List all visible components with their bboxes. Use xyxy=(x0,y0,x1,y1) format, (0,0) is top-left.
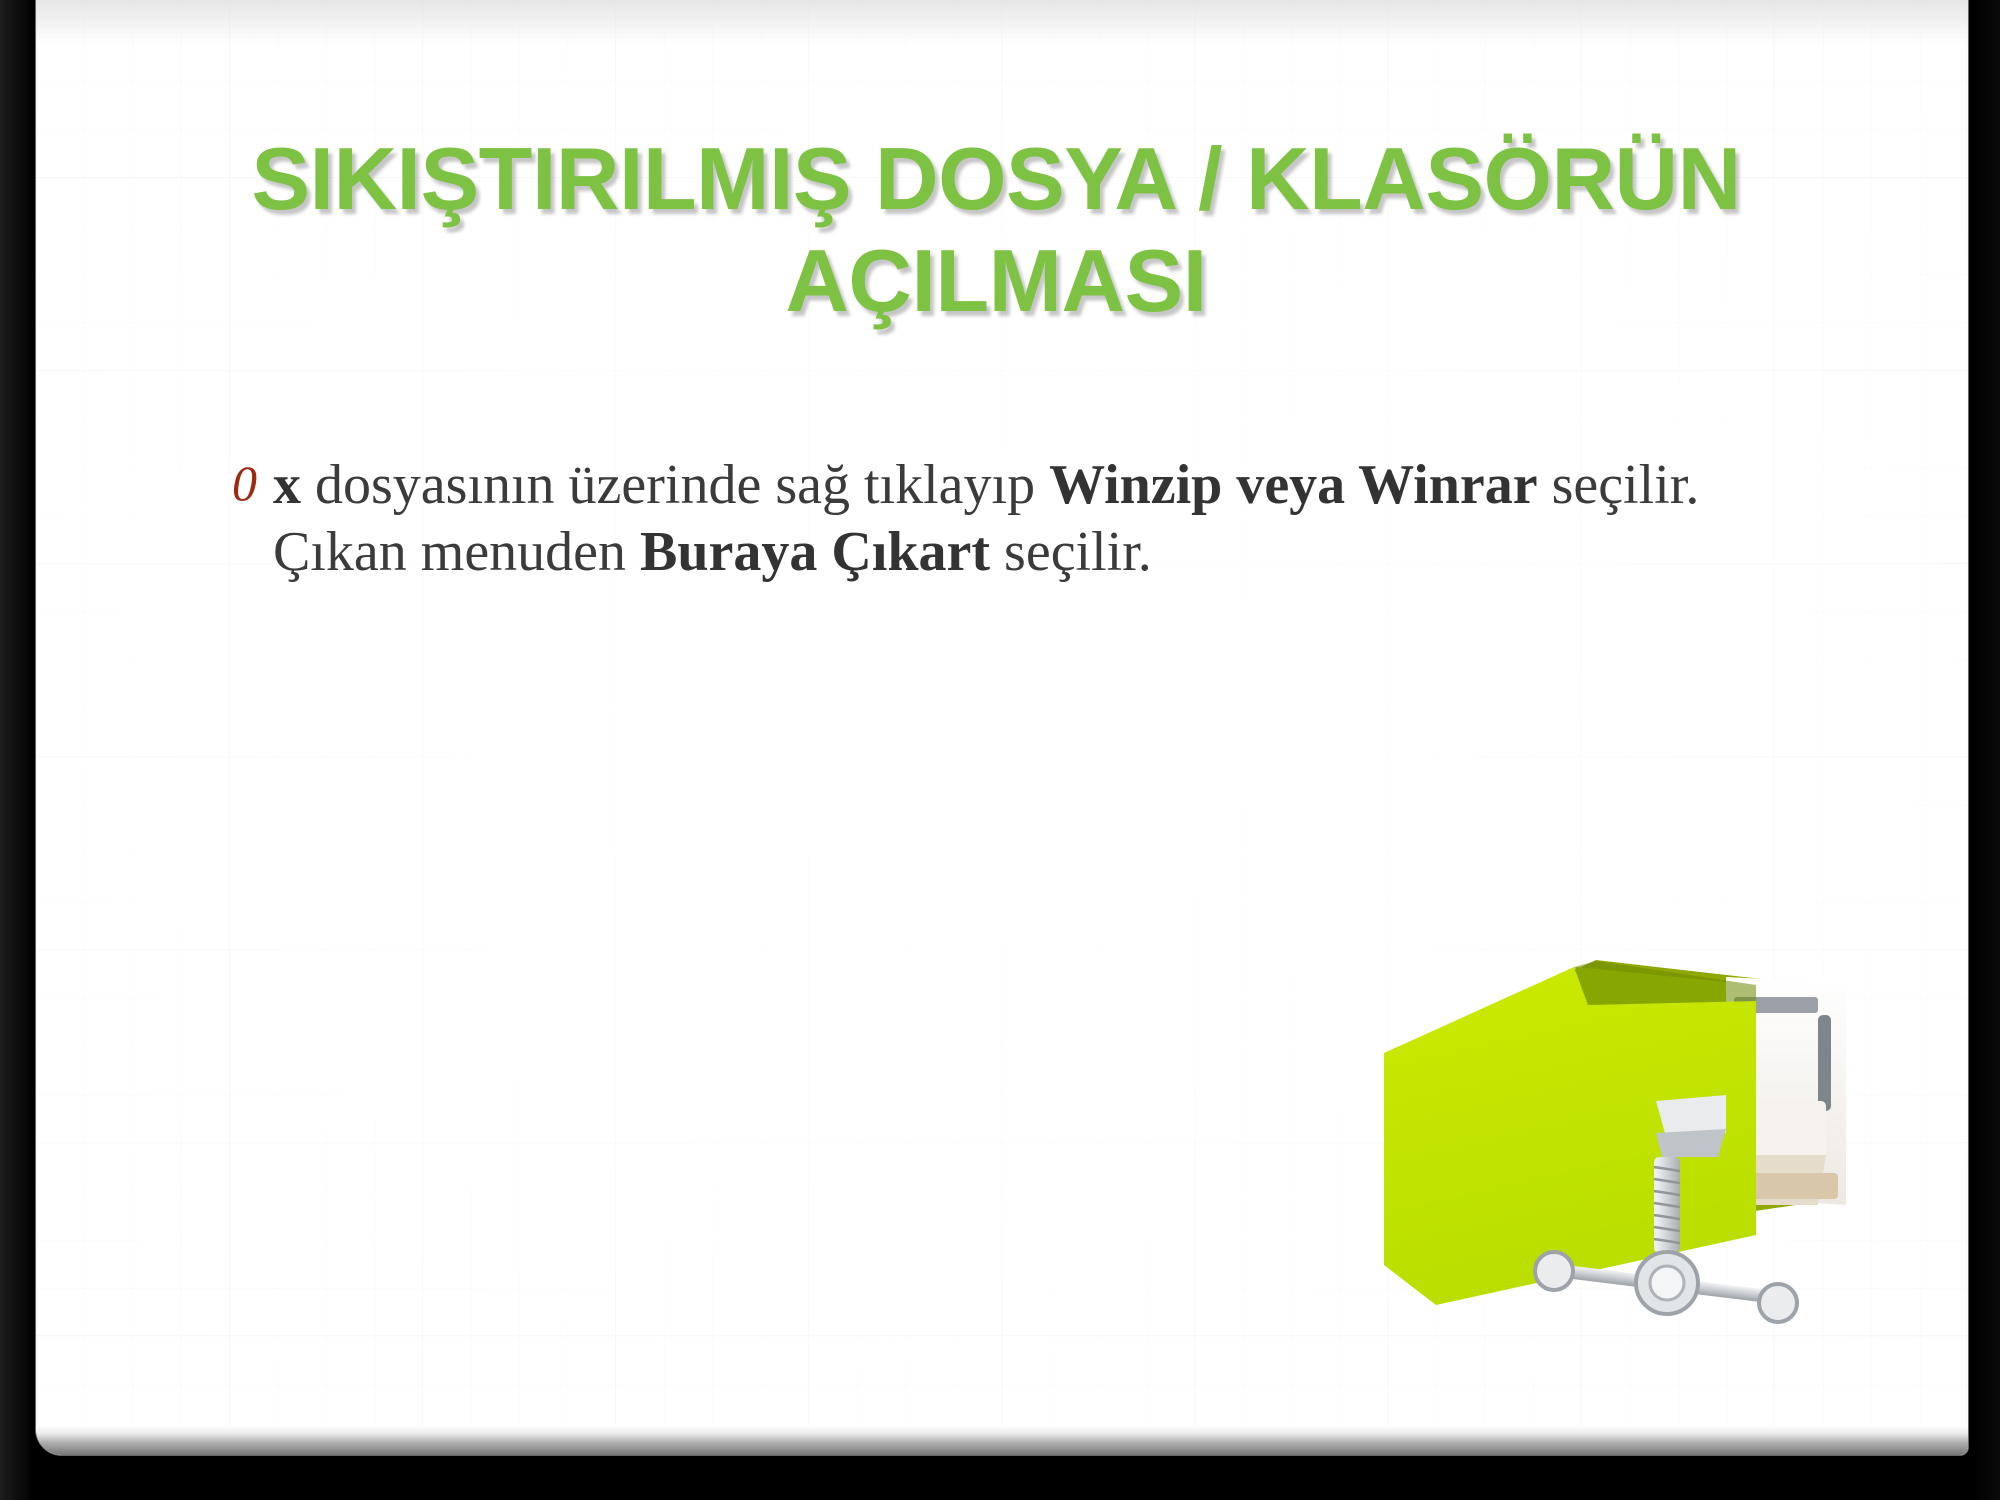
bullet-text-part6: seçilir. xyxy=(990,521,1152,583)
vise-jaw-lower xyxy=(1656,1129,1726,1157)
vise-screw-shaft xyxy=(1654,1157,1680,1253)
slide-surface: SIKIŞTIRILMIŞ DOSYA / KLASÖRÜN AÇILMASI … xyxy=(36,0,1968,1455)
bullet-text-part1: x xyxy=(273,454,301,516)
list-item: 0 x dosyasının üzerinde sağ tıklayıp Win… xyxy=(232,452,1852,586)
list-item-text: x dosyasının üzerinde sağ tıklayıp Winzi… xyxy=(273,452,1773,586)
slide-body: 0 x dosyasının üzerinde sağ tıklayıp Win… xyxy=(232,452,1852,586)
bullet-text-part2: dosyasının üzerinde sağ tıklayıp xyxy=(301,454,1049,516)
folder-tab-notch xyxy=(1574,961,1756,1005)
frame-left-edge xyxy=(0,0,34,1500)
folder-clamp-image xyxy=(1326,905,1926,1345)
bullet-marker-icon: 0 xyxy=(232,452,257,508)
slide-title: SIKIŞTIRILMIŞ DOSYA / KLASÖRÜN AÇILMASI xyxy=(176,128,1816,332)
bullet-text-part3: Winzip veya Winrar xyxy=(1049,454,1538,516)
folder-clamp-icon xyxy=(1326,905,1926,1345)
frame-right-edge xyxy=(1972,0,2000,1500)
clamp-vertical-rod xyxy=(1818,1015,1831,1111)
presentation-viewport: SIKIŞTIRILMIŞ DOSYA / KLASÖRÜN AÇILMASI … xyxy=(0,0,2000,1500)
bullet-text-part5: Buraya Çıkart xyxy=(640,521,990,583)
